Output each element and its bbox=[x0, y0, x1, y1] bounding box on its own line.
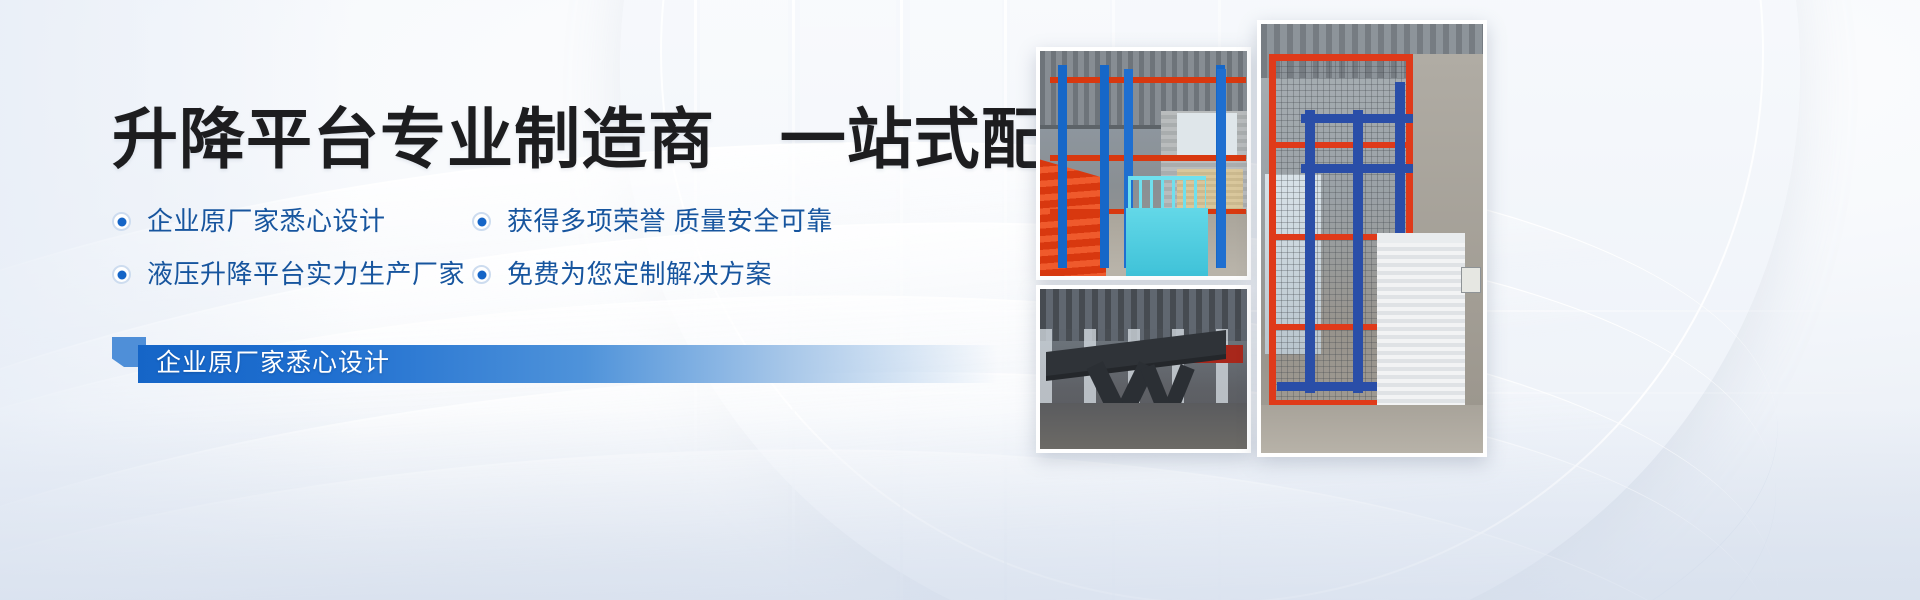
blue-rack-column bbox=[1100, 65, 1109, 268]
red-frame-beam bbox=[1269, 142, 1413, 148]
feature-label: 免费为您定制解决方案 bbox=[507, 259, 772, 290]
red-frame-column bbox=[1269, 54, 1276, 407]
feature-row: 企业原厂家悉心设计 获得多项荣誉 质量安全可靠 bbox=[112, 206, 972, 237]
bullet-dot-icon bbox=[112, 212, 131, 231]
control-box bbox=[1461, 267, 1481, 293]
feature-label: 液压升降平台实力生产厂家 bbox=[147, 259, 465, 290]
product-photo-lift-platform bbox=[1036, 47, 1251, 280]
feature-label: 获得多项荣誉 质量安全可靠 bbox=[507, 206, 833, 237]
blue-cross-beam bbox=[1301, 114, 1413, 123]
blue-rack-column bbox=[1058, 65, 1067, 268]
banner-content: 升降平台专业制造商 一站式配套服务 企业原厂家悉心设计 获得多项荣誉 质量安全可… bbox=[0, 0, 1030, 600]
feature-item: 企业原厂家悉心设计 bbox=[112, 206, 472, 237]
ribbon-label: 企业原厂家悉心设计 bbox=[156, 350, 390, 378]
bullet-dot-icon bbox=[112, 265, 131, 284]
photo-scene bbox=[1040, 51, 1247, 276]
product-photo-caged-cargo-lift bbox=[1257, 20, 1487, 457]
feature-list: 企业原厂家悉心设计 获得多项荣誉 质量安全可靠 液压升降平台实力生产厂家 免费为… bbox=[112, 206, 972, 312]
blue-mast-column bbox=[1353, 110, 1363, 393]
blue-mast-column bbox=[1305, 110, 1315, 393]
feature-item: 获得多项荣誉 质量安全可靠 bbox=[472, 206, 942, 237]
feature-item: 液压升降平台实力生产厂家 bbox=[112, 259, 472, 290]
headline-primary: 升降平台专业制造商 bbox=[112, 102, 715, 176]
white-roller-shutter-door bbox=[1377, 233, 1465, 433]
feature-label: 企业原厂家悉心设计 bbox=[147, 206, 386, 237]
bullet-dot-icon bbox=[472, 212, 491, 231]
feature-item: 免费为您定制解决方案 bbox=[472, 259, 942, 290]
warehouse-floor bbox=[1261, 405, 1483, 453]
photo-scene bbox=[1040, 289, 1247, 449]
feature-row: 液压升降平台实力生产厂家 免费为您定制解决方案 bbox=[112, 259, 972, 290]
ribbon-tag: 企业原厂家悉心设计 bbox=[112, 337, 1012, 383]
cyan-lift-platform bbox=[1126, 208, 1208, 276]
factory-floor bbox=[1040, 403, 1247, 449]
promo-banner: 升降平台专业制造商 一站式配套服务 企业原厂家悉心设计 获得多项荣誉 质量安全可… bbox=[0, 0, 1920, 600]
bullet-dot-icon bbox=[472, 265, 491, 284]
product-photo-scissor-lift bbox=[1036, 285, 1251, 453]
red-staircase bbox=[1040, 160, 1106, 280]
red-frame-beam bbox=[1269, 54, 1413, 61]
photo-scene bbox=[1261, 24, 1483, 453]
blue-cross-beam bbox=[1301, 164, 1413, 173]
product-photo-gallery bbox=[1030, 0, 1920, 600]
